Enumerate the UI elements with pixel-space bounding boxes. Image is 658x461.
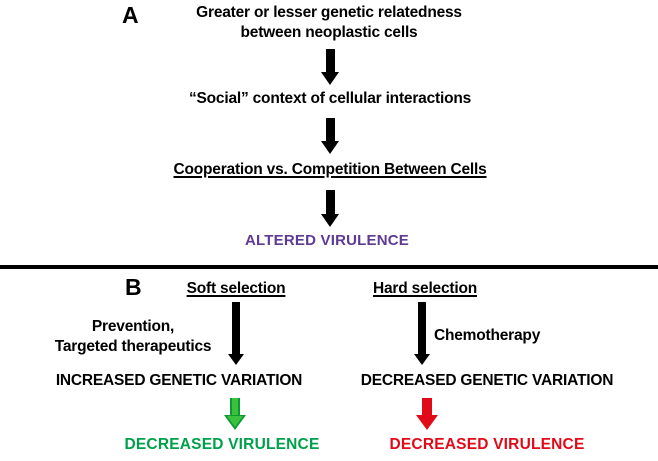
node-genetic-relatedness-line1: Greater or lesser genetic relatedness xyxy=(196,4,462,22)
arrow-b-right-red-down-icon xyxy=(416,398,438,430)
panel-a-letter: A xyxy=(122,4,139,27)
node-genetic-relatedness-line2: between neoplastic cells xyxy=(241,24,418,42)
arrow-a-3-down-icon xyxy=(321,190,339,227)
arrow-b-left-black-down-icon xyxy=(228,302,244,365)
panel-b-letter: B xyxy=(125,276,142,299)
label-targeted-therapeutics: Targeted therapeutics xyxy=(55,338,212,356)
label-chemotherapy: Chemotherapy xyxy=(434,327,540,345)
arrow-a-2-down-icon xyxy=(321,118,339,154)
figure-canvas: A Greater or lesser genetic relatedness … xyxy=(0,0,658,461)
outcome-decreased-virulence-right: DECREASED VIRULENCE xyxy=(390,436,585,454)
outcome-decreased-virulence-left: DECREASED VIRULENCE xyxy=(125,436,320,454)
outcome-decreased-genetic-variation: DECREASED GENETIC VARIATION xyxy=(361,372,613,390)
outcome-increased-genetic-variation: INCREASED GENETIC VARIATION xyxy=(56,372,302,390)
arrow-b-left-green-down-icon xyxy=(224,398,246,430)
node-altered-virulence: ALTERED VIRULENCE xyxy=(245,232,409,250)
node-social-context: “Social” context of cellular interaction… xyxy=(189,90,471,108)
panel-divider xyxy=(0,265,658,269)
arrow-a-1-down-icon xyxy=(321,49,339,85)
heading-hard-selection: Hard selection xyxy=(373,280,477,298)
label-prevention: Prevention, xyxy=(92,318,174,336)
arrow-b-right-black-down-icon xyxy=(414,302,430,365)
heading-soft-selection: Soft selection xyxy=(187,280,286,298)
node-cooperation-vs-competition: Cooperation vs. Competition Between Cell… xyxy=(173,161,486,179)
